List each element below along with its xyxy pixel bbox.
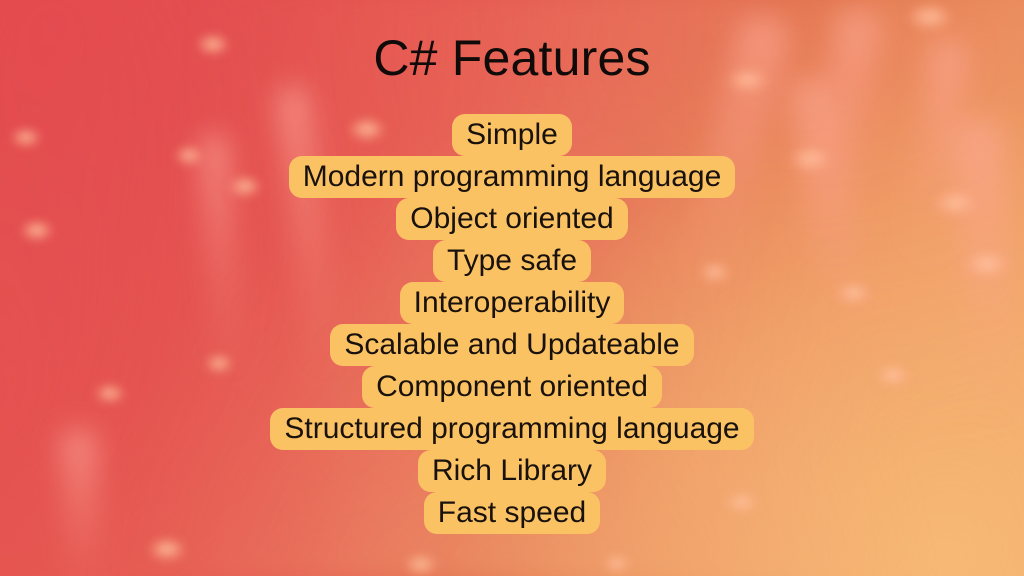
list-item: Object oriented bbox=[396, 198, 627, 240]
page-title: C# Features bbox=[0, 28, 1024, 88]
list-item: Modern programming language bbox=[289, 156, 736, 198]
feature-label: Simple bbox=[452, 114, 572, 156]
feature-label: Fast speed bbox=[424, 492, 600, 534]
slide-canvas: C# Features Simple Modern programming la… bbox=[0, 0, 1024, 576]
feature-label: Interoperability bbox=[400, 282, 625, 324]
list-item: Interoperability bbox=[400, 282, 625, 324]
feature-label: Structured programming language bbox=[270, 408, 753, 450]
list-item: Structured programming language bbox=[270, 408, 753, 450]
list-item: Component oriented bbox=[362, 366, 662, 408]
list-item: Rich Library bbox=[418, 450, 606, 492]
list-item: Fast speed bbox=[424, 492, 600, 534]
feature-label: Modern programming language bbox=[289, 156, 736, 198]
list-item: Type safe bbox=[433, 240, 591, 282]
feature-label: Component oriented bbox=[362, 366, 662, 408]
list-item: Scalable and Updateable bbox=[330, 324, 693, 366]
feature-list: Simple Modern programming language Objec… bbox=[0, 114, 1024, 534]
feature-label: Object oriented bbox=[396, 198, 627, 240]
feature-label: Type safe bbox=[433, 240, 591, 282]
feature-label: Rich Library bbox=[418, 450, 606, 492]
list-item: Simple bbox=[452, 114, 572, 156]
feature-label: Scalable and Updateable bbox=[330, 324, 693, 366]
slide-content: C# Features Simple Modern programming la… bbox=[0, 0, 1024, 576]
